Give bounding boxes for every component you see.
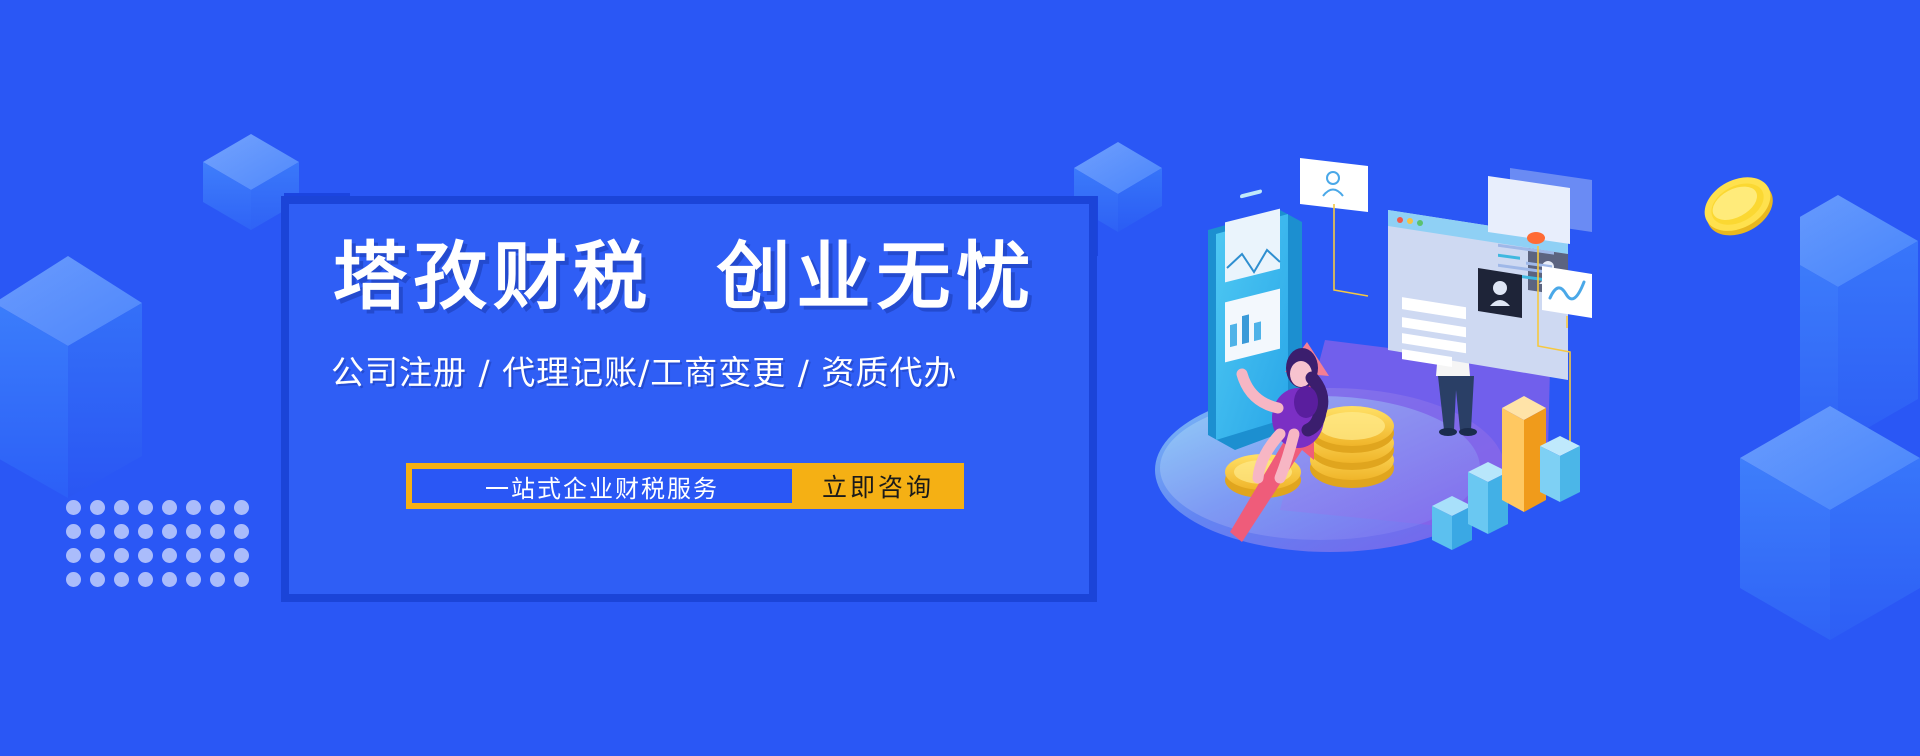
dot-grid-decor (66, 500, 258, 596)
pillar-decor-right (1800, 185, 1920, 485)
consult-now-button[interactable]: 立即咨询 (792, 463, 964, 509)
coin-decor-right (1690, 160, 1786, 250)
headline-frame: 塔孜财税 创业无忧 公司注册 / 代理记账/工商变更 / 资质代办 一站式企业财… (281, 196, 1097, 602)
cta-tagline: 一站式企业财税服务 (412, 469, 792, 503)
page-title: 塔孜财税 创业无忧 (333, 240, 1037, 314)
user-card-float (1300, 158, 1368, 212)
pillar-decor-bottomright (1730, 400, 1920, 660)
services-subtitle: 公司注册 / 代理记账/工商变更 / 资质代办 (331, 356, 957, 389)
left-pillar-decor (0, 198, 155, 498)
document-card-float (1488, 168, 1592, 282)
promotional-banner: 塔孜财税 创业无忧 公司注册 / 代理记账/工商变更 / 资质代办 一站式企业财… (0, 0, 1920, 756)
cta-bar: 一站式企业财税服务 立即咨询 (406, 463, 964, 509)
chart-card-float (1542, 266, 1592, 318)
business-finance-illustration (1130, 150, 1600, 560)
